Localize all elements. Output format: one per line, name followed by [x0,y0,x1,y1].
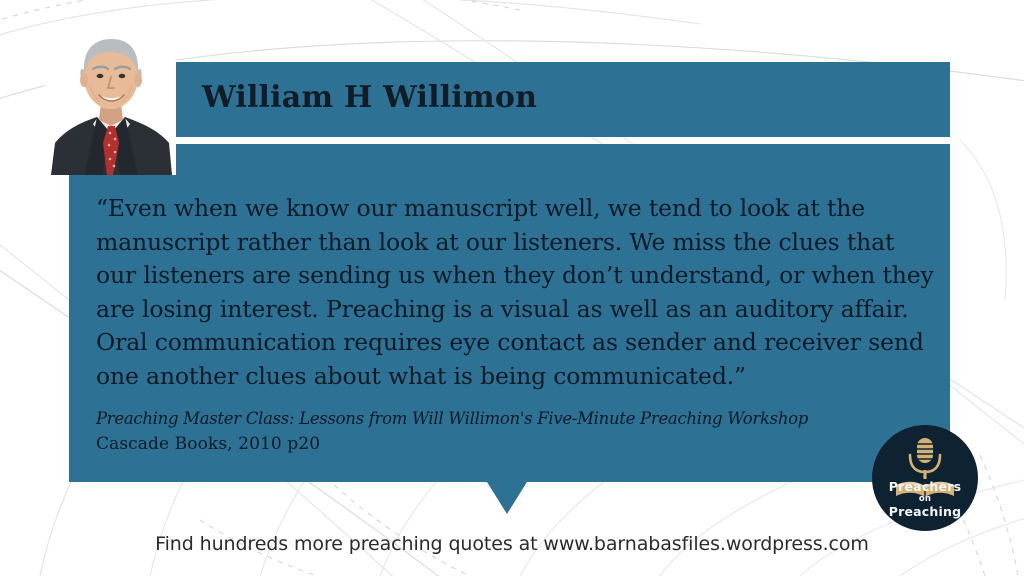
quote-line: one another clues about what is being co… [96,360,936,394]
logo-badge: Preachers on Preaching [872,425,978,531]
quote-line: are losing interest. Preaching is a visu… [96,293,936,327]
footer-text: Find hundreds more preaching quotes at w… [0,533,1024,555]
quote-panel: “Even when we know our manuscript well, … [69,144,950,482]
speaker-name-banner: William H Willimon [69,62,950,137]
quote-line: “Even when we know our manuscript well, … [96,192,936,226]
speech-bubble-tail [487,482,527,514]
speaker-portrait [45,25,176,175]
quote-text: “Even when we know our manuscript well, … [96,192,936,393]
logo-text-line1: Preachers [872,479,978,494]
speaker-name: William H Willimon [202,80,537,115]
quote-line: our listeners are sending us when they d… [96,259,936,293]
attribution: Preaching Master Class: Lessons from Wil… [96,407,936,457]
attribution-source: Preaching Master Class: Lessons from Wil… [96,407,936,431]
quote-line: Oral communication requires eye contact … [96,326,936,360]
logo-text-line2: on [872,494,978,504]
quote-line: manuscript rather than look at our liste… [96,226,936,260]
quote-card: William H Willimon “Even when we know ou… [0,0,1024,576]
logo-text-line3: Preaching [872,504,978,519]
attribution-publisher: Cascade Books, 2010 p20 [96,431,936,457]
